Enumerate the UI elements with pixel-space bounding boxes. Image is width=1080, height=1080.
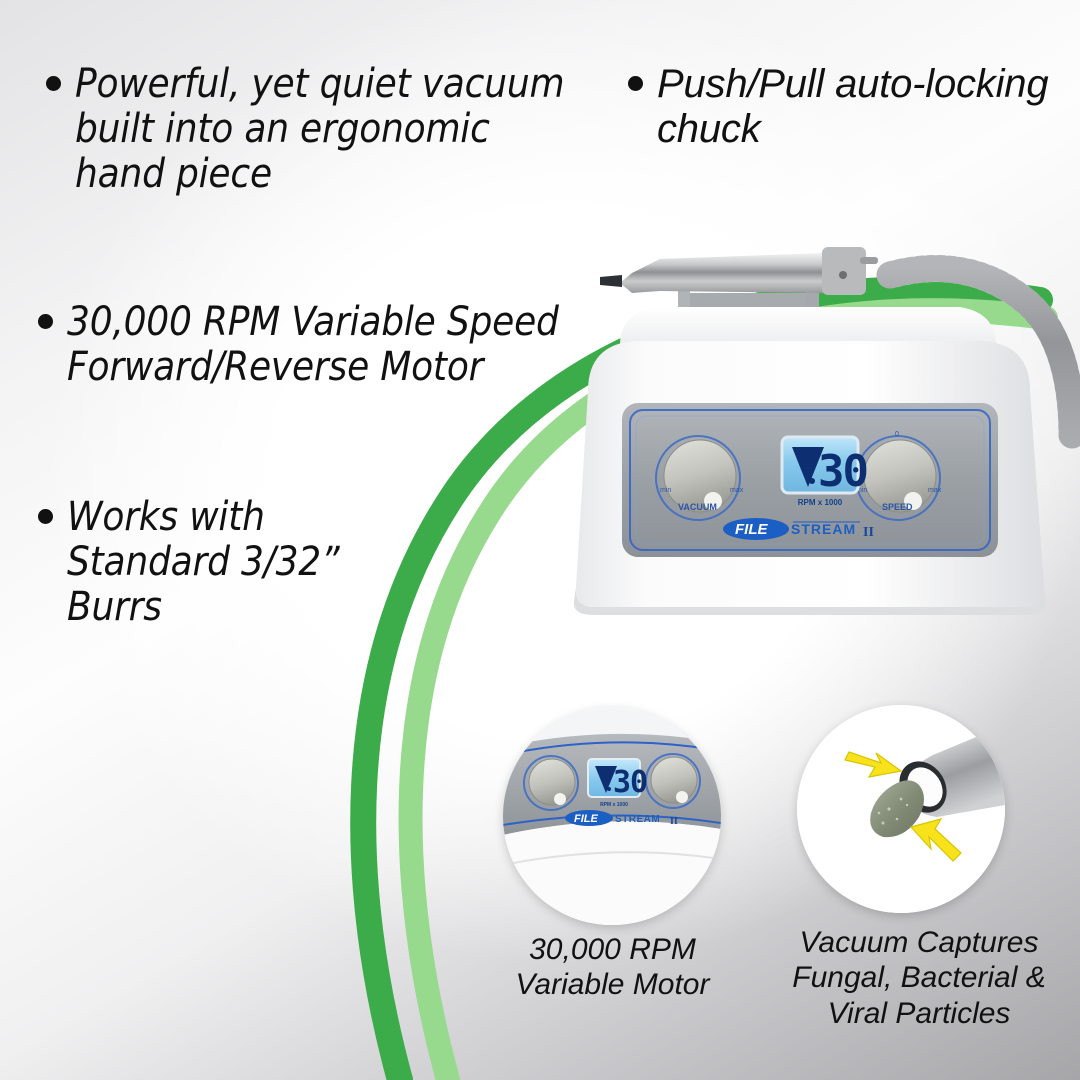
bullet-dot-icon xyxy=(628,76,643,91)
lcd-display: 30 xyxy=(782,437,867,497)
caption-line: Variable Motor xyxy=(460,967,765,1002)
caption-line: Fungal, Bacterial & xyxy=(758,960,1080,995)
bullet-item-variable-speed-motor: 30,000 RPM Variable Speed Forward/Revers… xyxy=(38,300,598,390)
svg-text:RPM x 1000: RPM x 1000 xyxy=(600,802,628,808)
bullet-text: Works with Standard 3/32” Burrs xyxy=(67,495,398,631)
inset-caption-motor: 30,000 RPM Variable Motor xyxy=(460,932,765,1003)
handpiece-icon xyxy=(600,247,878,295)
inset-control-panel-closeup: 30 RPM x 1000 FILE STREAM II xyxy=(503,707,721,925)
svg-text:VACUUM: VACUUM xyxy=(678,502,717,512)
bullet-dot-icon xyxy=(38,314,53,329)
inset-burr-vacuum-closeup xyxy=(797,705,1005,913)
svg-text:II: II xyxy=(670,816,678,827)
inset-speed-knob-icon xyxy=(646,754,700,808)
inset-vacuum-knob-icon xyxy=(524,756,578,810)
caption-line: Viral Particles xyxy=(758,996,1080,1031)
inset-caption-vacuum: Vacuum Captures Fungal, Bacterial & Vira… xyxy=(758,925,1080,1031)
bullet-item-vacuum-handpiece: Powerful, yet quiet vacuum built into an… xyxy=(46,62,586,198)
svg-text:max: max xyxy=(928,487,942,494)
svg-text:min: min xyxy=(660,487,671,494)
infographic-canvas: Powerful, yet quiet vacuum built into an… xyxy=(0,0,1080,1080)
bullet-text: Push/Pull auto-locking chuck xyxy=(657,62,1068,152)
svg-text:0: 0 xyxy=(895,431,899,438)
brand-logo: FILE STREAM II xyxy=(723,518,874,540)
inset-lcd-display: 30 xyxy=(588,759,647,800)
bullet-dot-icon xyxy=(38,509,53,524)
svg-text:FILE: FILE xyxy=(574,813,598,825)
svg-text:STREAM: STREAM xyxy=(615,814,660,825)
bullet-item-auto-locking-chuck: Push/Pull auto-locking chuck xyxy=(628,62,1068,152)
caption-line: 30,000 RPM xyxy=(460,932,765,967)
svg-text:30: 30 xyxy=(818,446,867,497)
caption-line: Vacuum Captures xyxy=(758,925,1080,960)
svg-text:II: II xyxy=(863,525,874,540)
svg-text:FILE: FILE xyxy=(735,521,768,538)
bullet-text: Powerful, yet quiet vacuum built into an… xyxy=(75,62,586,198)
bullet-text: 30,000 RPM Variable Speed Forward/Revers… xyxy=(67,300,598,390)
svg-text:STREAM: STREAM xyxy=(791,521,856,537)
device-photo: min max VACUUM 0 min max SPEED 30 xyxy=(560,195,1080,625)
bullet-dot-icon xyxy=(46,76,61,91)
svg-text:max: max xyxy=(730,487,744,494)
svg-text:30: 30 xyxy=(613,765,647,800)
bullet-item-standard-burrs: Works with Standard 3/32” Burrs xyxy=(38,495,398,631)
svg-text:SPEED: SPEED xyxy=(882,502,913,512)
rpm-units-label: RPM x 1000 xyxy=(798,498,843,507)
